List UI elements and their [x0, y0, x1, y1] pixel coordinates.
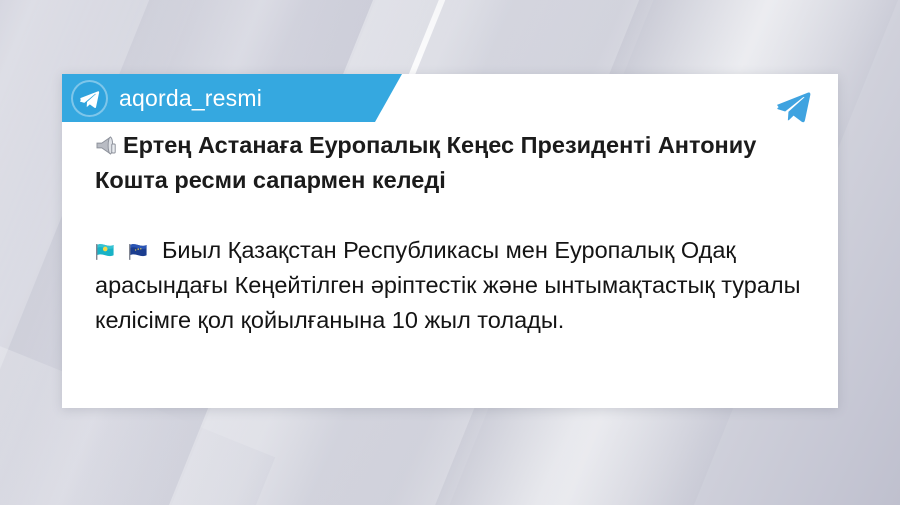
post-paragraph-text: Биыл Қазақстан Республикасы мен Еуропалы…	[95, 237, 801, 333]
telegram-post-card: aqorda_resmi Ертең Астанаға Еуропалық Ке…	[62, 74, 838, 408]
channel-header-bar: aqorda_resmi	[62, 74, 402, 122]
post-paragraph-text: Ертең Астанаға Еуропалық Кеңес Президент…	[95, 132, 756, 193]
loudspeaker-emoji	[95, 134, 122, 157]
channel-name-label: aqorda_resmi	[119, 85, 262, 112]
post-content: Ертең Астанаға Еуропалық Кеңес Президент…	[95, 128, 808, 338]
telegram-avatar-icon	[71, 80, 108, 117]
post-paragraph-headline: Ертең Астанаға Еуропалық Кеңес Президент…	[95, 128, 808, 198]
post-paragraph-body: Биыл Қазақстан Республикасы мен Еуропалы…	[95, 233, 808, 338]
flag-kazakhstan-emoji	[95, 241, 121, 262]
telegram-paper-plane-icon	[770, 85, 816, 125]
flag-european-union-emoji	[128, 241, 154, 262]
